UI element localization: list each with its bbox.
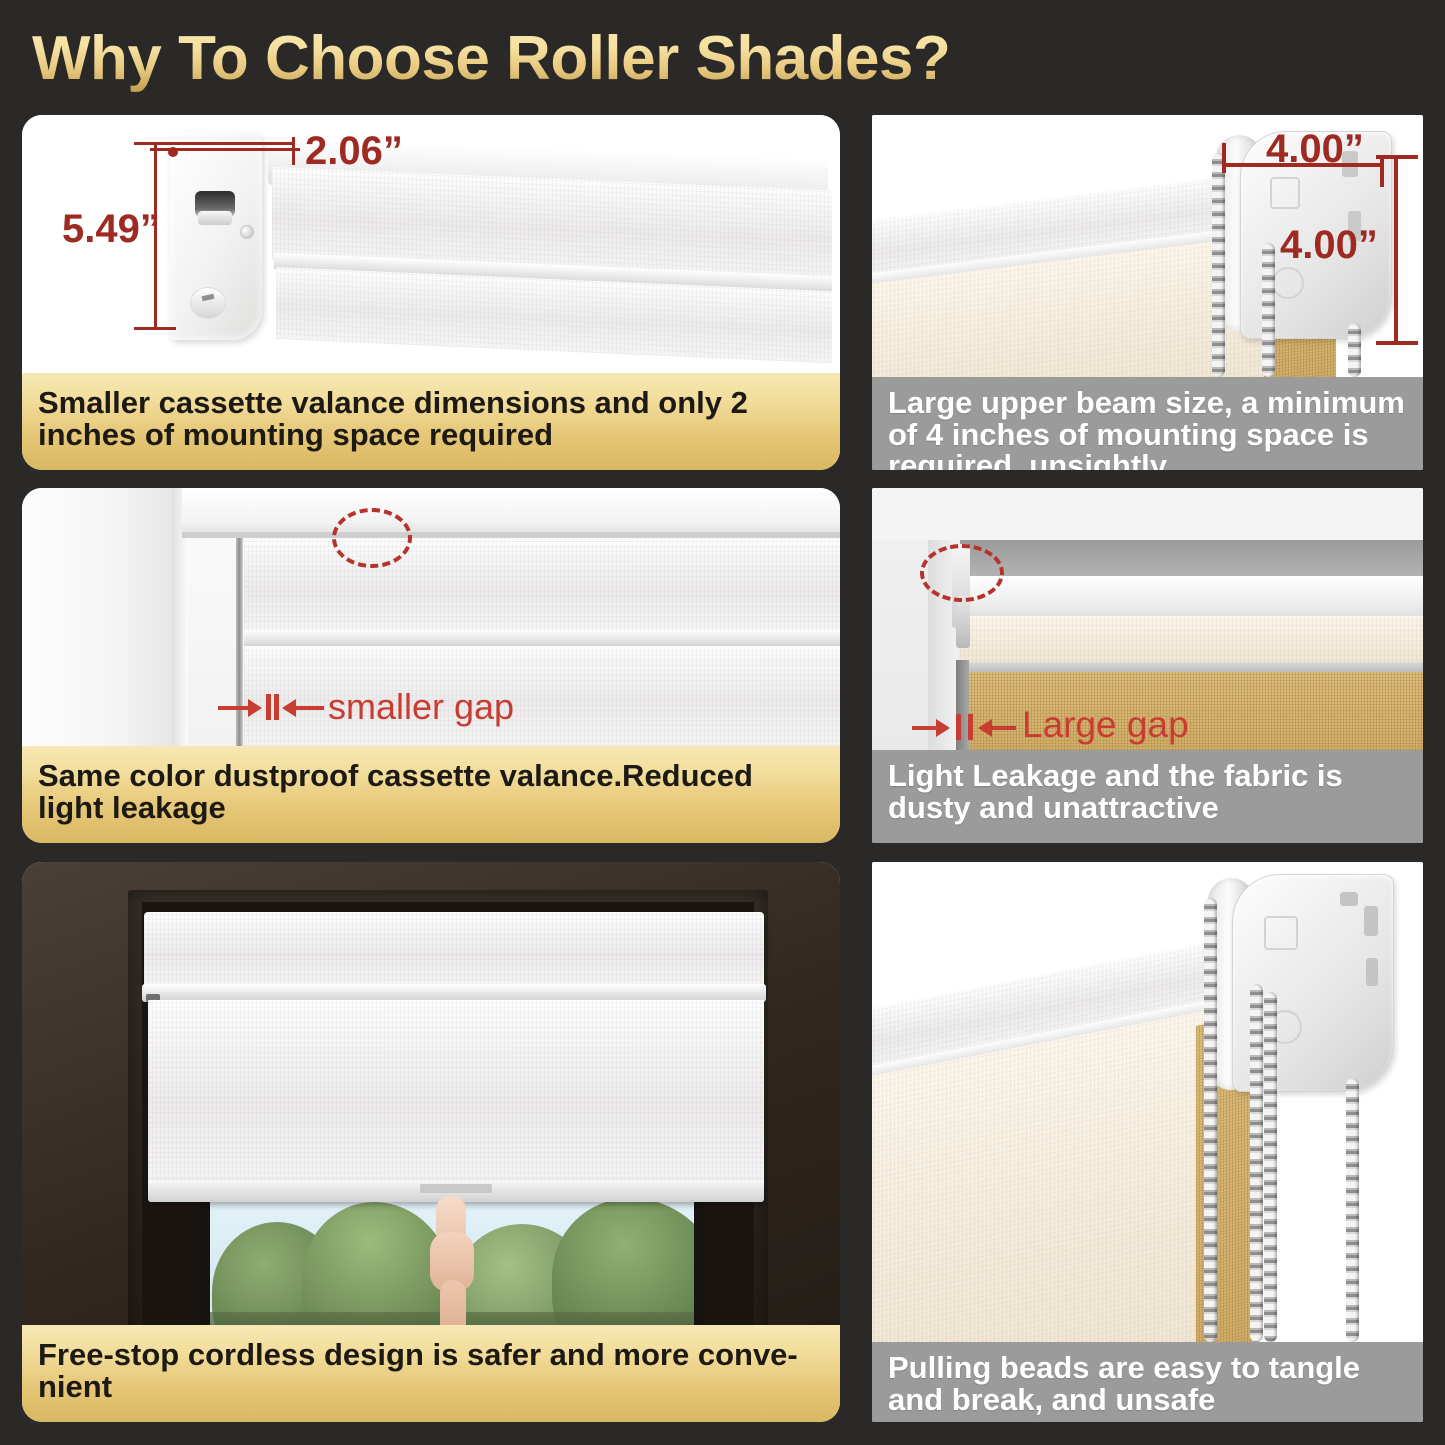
- width-dimension-label: 2.06”: [305, 129, 403, 174]
- beam-height-label: 4.00”: [1280, 223, 1378, 268]
- smaller-gap-label: smaller gap: [328, 686, 514, 728]
- bead-chain: [1262, 243, 1275, 377]
- bead-chain: [1264, 992, 1277, 1342]
- caption-smaller-gap: Same color dustproof cassette valance.Re…: [22, 746, 840, 843]
- gap-arrow-left: [218, 706, 252, 710]
- bead-chain: [1346, 1078, 1359, 1342]
- bead-chain: [1348, 323, 1361, 377]
- beam-width-label: 4.00”: [1266, 127, 1364, 172]
- panel-smaller-gap: smaller gap Same color dustproof cassett…: [22, 488, 840, 843]
- caption-pulling-beads: Pulling beads are easy to tangle and bre…: [872, 1342, 1423, 1422]
- caption-large-gap: Light Leakage and the fabric is dusty an…: [872, 750, 1423, 843]
- cassette-dimensions-photo: 5.49” 2.06”: [22, 115, 840, 373]
- hand: [430, 1196, 486, 1346]
- bead-chain: [1250, 984, 1263, 1342]
- smaller-gap-photo: smaller gap: [22, 488, 840, 746]
- gap-highlight-circle: [920, 544, 1004, 602]
- panel-large-gap: Large gap Light Leakage and the fabric i…: [872, 488, 1423, 843]
- bead-chain: [1204, 898, 1217, 1342]
- panel-cassette-dimensions: 5.49” 2.06” Smaller cassette valance dim…: [22, 115, 840, 470]
- large-upper-beam-photo: 4.00” 4.00”: [872, 115, 1423, 377]
- width-dimension-line: [174, 142, 294, 145]
- large-gap-photo: Large gap: [872, 488, 1423, 750]
- panel-pulling-beads: Pulling beads are easy to tangle and bre…: [872, 862, 1423, 1422]
- caption-cassette-dimensions: Smaller cassette valance dimensions and …: [22, 373, 840, 470]
- gap-arrow-right: [988, 726, 1016, 730]
- caption-large-upper-beam: Large upper beam size, a minimum of 4 in…: [872, 377, 1423, 470]
- large-gap-label: Large gap: [1022, 704, 1189, 746]
- panel-cordless-design: Free-stop cordless design is safer and m…: [22, 862, 840, 1422]
- pulling-beads-photo: [872, 862, 1423, 1342]
- comparison-grid: 5.49” 2.06” Smaller cassette valance dim…: [0, 0, 1445, 1445]
- height-dimension-label: 5.49”: [62, 207, 160, 252]
- bead-chain: [1212, 153, 1225, 377]
- caption-cordless-design: Free-stop cordless design is safer and m…: [22, 1325, 840, 1422]
- panel-large-upper-beam: 4.00” 4.00” Large upper beam size, a min…: [872, 115, 1423, 470]
- gap-highlight-circle: [332, 508, 412, 568]
- cordless-design-photo: [22, 862, 840, 1352]
